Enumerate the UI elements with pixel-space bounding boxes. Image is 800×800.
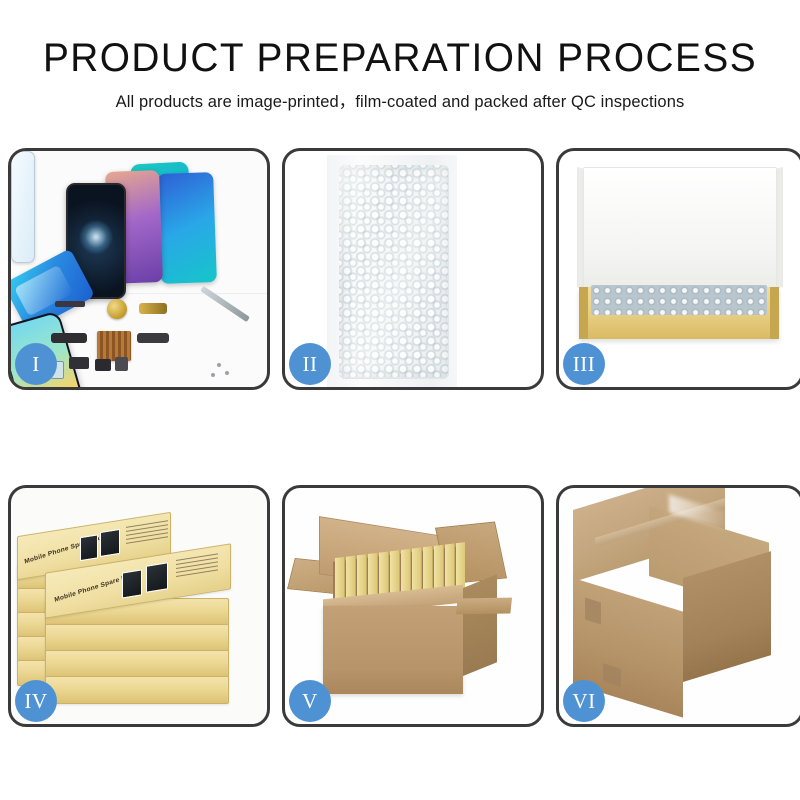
gold-connector-icon	[139, 303, 167, 314]
small-part-icon	[95, 359, 111, 371]
small-part-icon	[115, 357, 128, 371]
step-badge-5: V	[289, 680, 331, 722]
screw-icon	[211, 373, 215, 377]
header: PRODUCT PREPARATION PROCESS All products…	[0, 0, 800, 111]
printed-screen-thumb	[122, 569, 142, 598]
flex-cable-icon	[137, 333, 169, 343]
step-badge-6: VI	[563, 680, 605, 722]
phone-blue-icon	[157, 172, 217, 284]
box-stack: Mobile Phone Spare Parts Mobile Phone Sp…	[17, 502, 263, 714]
step-panel-6[interactable]: VI	[556, 485, 800, 727]
step-badge-1: I	[15, 343, 57, 385]
printed-screen-thumb	[100, 529, 120, 557]
bubble-wrapped-contents-icon	[591, 285, 767, 315]
retail-box	[45, 624, 229, 652]
step-panel-2[interactable]: II	[282, 148, 544, 390]
process-steps-grid: I II III	[8, 148, 792, 736]
tray-edge-right	[770, 287, 779, 339]
box-lid-icon	[583, 167, 777, 293]
step-badge-4: IV	[15, 680, 57, 722]
printed-screen-thumb	[80, 534, 98, 561]
step-panel-4[interactable]: Mobile Phone Spare Parts Mobile Phone Sp…	[8, 485, 270, 727]
step-panel-5[interactable]: V	[282, 485, 544, 727]
carton-front-face	[323, 606, 463, 694]
printed-spec-lines	[126, 520, 168, 553]
flex-cable-icon	[51, 333, 87, 343]
retail-box	[45, 650, 229, 678]
printed-screen-thumb	[146, 562, 168, 592]
carton-side-face	[463, 574, 497, 676]
step-panel-1[interactable]: I	[8, 148, 270, 390]
carton-tape-mark	[585, 598, 601, 625]
tray-edge-left	[579, 287, 588, 339]
tempered-glass-icon	[11, 151, 35, 263]
product-preparation-process-page: PRODUCT PREPARATION PROCESS All products…	[0, 0, 800, 800]
step-badge-3: III	[563, 343, 605, 385]
screw-icon	[225, 371, 229, 375]
step-badge-2: II	[289, 343, 331, 385]
small-part-icon	[69, 357, 89, 369]
retail-box	[45, 676, 229, 704]
page-subtitle: All products are image-printed，film-coat…	[0, 94, 800, 111]
screw-icon	[217, 363, 221, 367]
page-title: PRODUCT PREPARATION PROCESS	[12, 38, 788, 78]
plastic-sheen	[339, 165, 447, 377]
speaker-coil-icon	[107, 299, 127, 319]
carton-flap-front	[456, 598, 512, 615]
tweezers-icon	[200, 286, 250, 322]
printed-spec-lines	[176, 553, 218, 586]
step-panel-3[interactable]: III	[556, 148, 800, 390]
flex-cable-icon	[55, 301, 85, 307]
